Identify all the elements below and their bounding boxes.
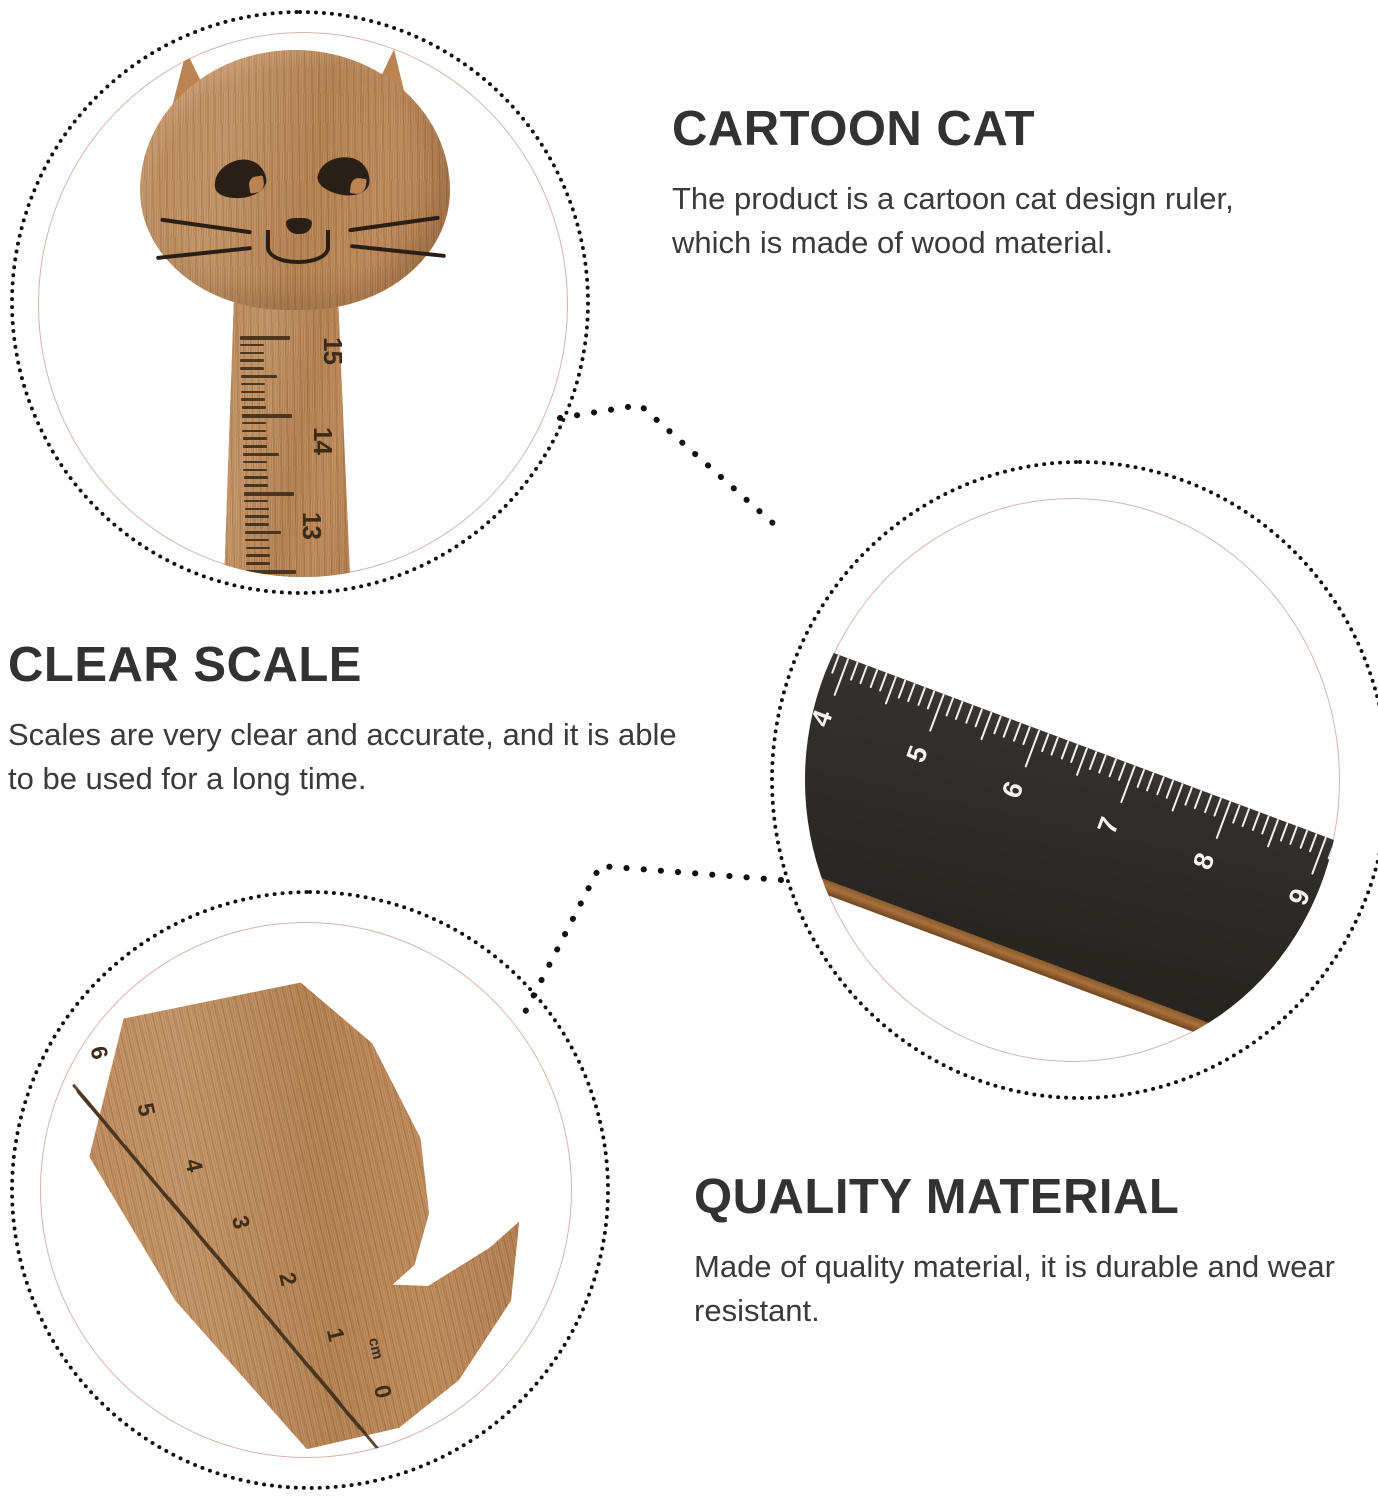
feature-text-quality-material: QUALITY MATERIAL Made of quality materia…	[694, 1172, 1354, 1333]
infographic-canvas: 15 14 13 12 3456789 0123456	[0, 0, 1378, 1500]
connector-blackruler-to-tail	[520, 866, 781, 1022]
connector-cat-to-blackruler	[560, 405, 775, 525]
body-clear-scale: Scales are very clear and accurate, and …	[8, 713, 698, 801]
heading-cartoon-cat: CARTOON CAT	[672, 104, 1272, 155]
body-cartoon-cat: The product is a cartoon cat design rule…	[672, 177, 1272, 265]
feature-text-cartoon-cat: CARTOON CAT The product is a cartoon cat…	[672, 104, 1272, 265]
feature-text-clear-scale: CLEAR SCALE Scales are very clear and ac…	[8, 640, 698, 801]
heading-quality-material: QUALITY MATERIAL	[694, 1172, 1354, 1223]
heading-clear-scale: CLEAR SCALE	[8, 640, 698, 691]
body-quality-material: Made of quality material, it is durable …	[694, 1245, 1354, 1333]
